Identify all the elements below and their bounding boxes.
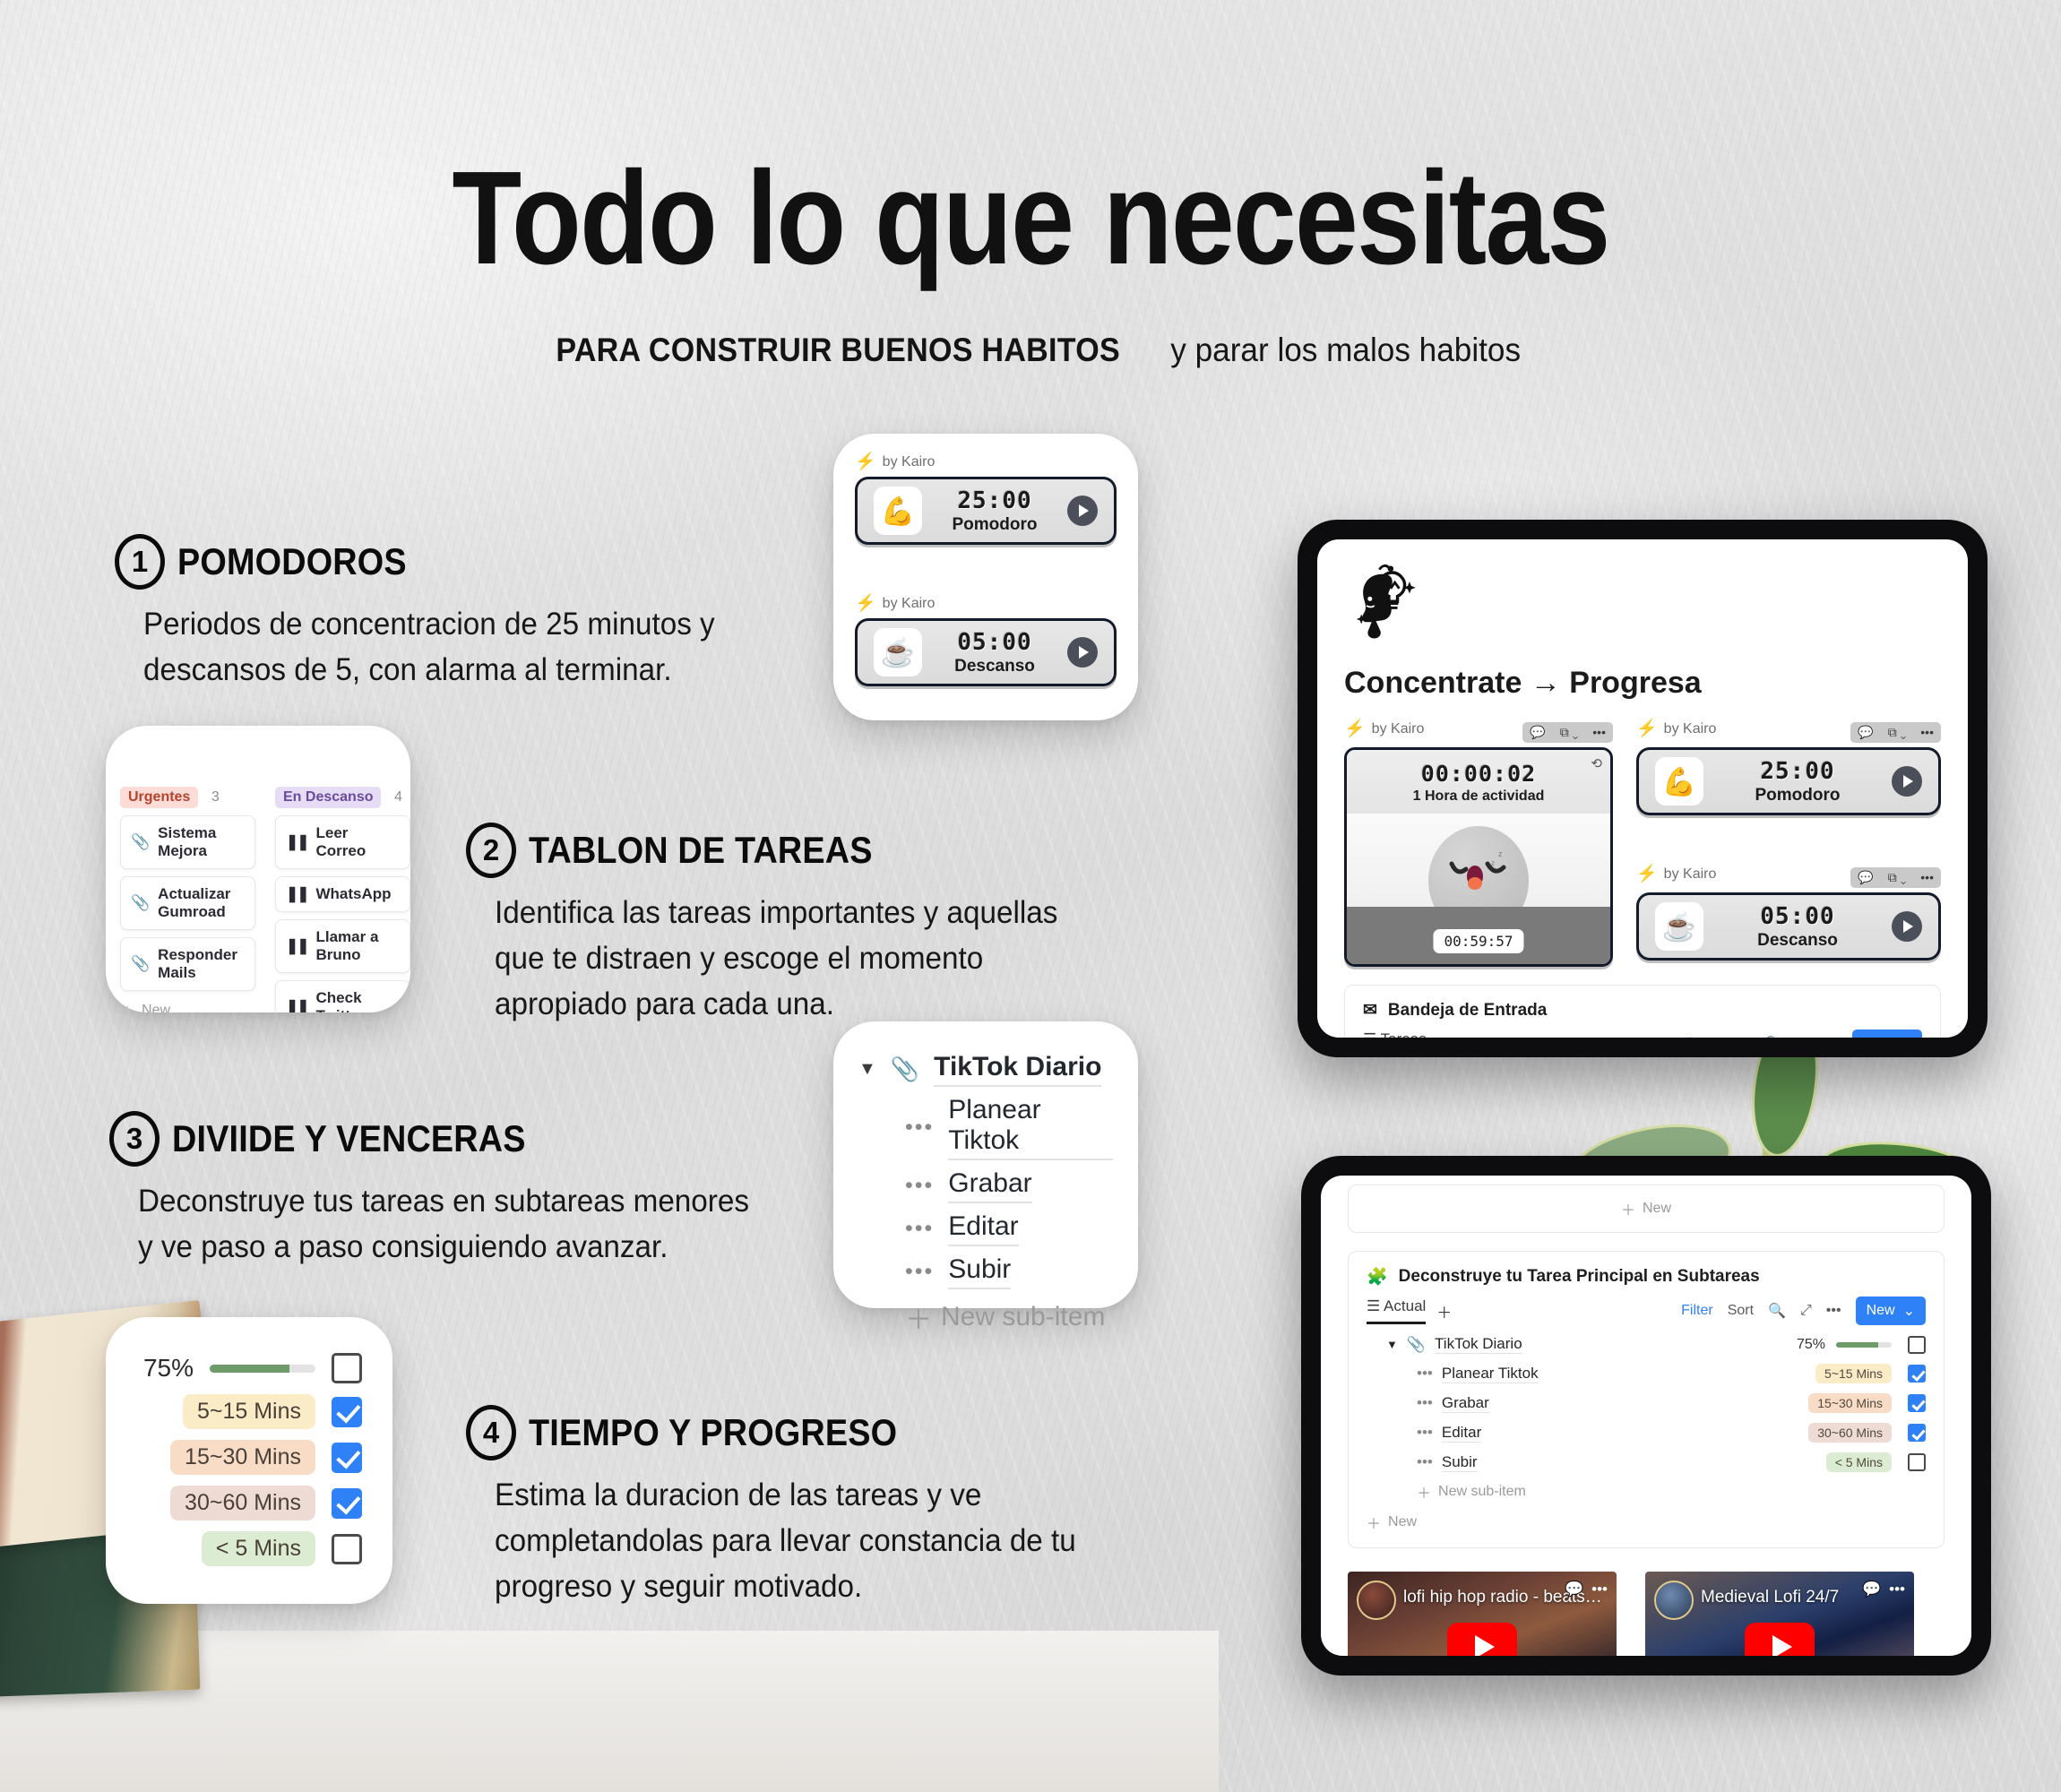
paperclip-icon: 📎 bbox=[131, 955, 150, 973]
progress-bar bbox=[210, 1365, 315, 1373]
child-checkbox[interactable] bbox=[1908, 1424, 1926, 1442]
task-card[interactable]: ❚❚ Leer Correo bbox=[275, 815, 410, 869]
time-row: < 5 Mins bbox=[136, 1531, 362, 1566]
tab-tareas-label: Tareas bbox=[1381, 1030, 1427, 1038]
tablet-timer-clock-descanso: 05:00 bbox=[1716, 903, 1879, 930]
time-row: 30~60 Mins bbox=[136, 1486, 362, 1521]
feature-number-2: 2 bbox=[466, 823, 516, 878]
column-count-urgentes: 3 bbox=[211, 789, 220, 805]
new-task-button-urgentes[interactable]: ＋ New bbox=[120, 1000, 255, 1012]
tablet-timer-column: ⚡ by Kairo 💬 ⧉ ⌄ ••• 💪 25:00 bbox=[1636, 720, 1941, 967]
child-label: Subir bbox=[1442, 1453, 1478, 1472]
feature-title-4: TIEMPO Y PROGRESO bbox=[529, 1411, 897, 1454]
feature-body-1: Periodos de concentracion de 25 minutos … bbox=[143, 602, 780, 694]
feature-title-1: POMODOROS bbox=[177, 540, 407, 583]
subtask-label: Grabar bbox=[948, 1168, 1031, 1203]
ellipsis-icon[interactable]: ••• bbox=[1417, 1394, 1433, 1412]
play-icon[interactable] bbox=[1892, 766, 1922, 797]
new-row-label: New bbox=[1388, 1514, 1417, 1530]
task-label: Check Twitter bbox=[316, 989, 401, 1012]
feature-tablon: 2 TABLON DE TAREAS Identifica las tareas… bbox=[466, 823, 1174, 1027]
paperclip-icon: 📎 bbox=[891, 1055, 919, 1083]
play-icon[interactable] bbox=[1067, 637, 1098, 668]
tablet-top-screen: Concentrate → Progresa ⚡ by Kairo 💬 ⧉ ⌄ … bbox=[1317, 539, 1968, 1038]
tab-actual-label: Actual bbox=[1384, 1297, 1426, 1314]
subtask-row[interactable]: ••• Editar bbox=[905, 1211, 1113, 1246]
time-pill[interactable]: < 5 Mins bbox=[202, 1531, 315, 1566]
bolt-icon: ⚡ bbox=[855, 453, 876, 470]
subtask-card: ▼ 📎 TikTok Diario ••• Planear Tiktok •••… bbox=[833, 1021, 1138, 1308]
timer-clock-pomodoro: 25:00 bbox=[935, 487, 1055, 514]
tablet-top: Concentrate → Progresa ⚡ by Kairo 💬 ⧉ ⌄ … bbox=[1298, 520, 1988, 1057]
task-card[interactable]: ❚❚ WhatsApp bbox=[275, 876, 410, 912]
duration-pill[interactable]: 5~15 Mins bbox=[1815, 1364, 1892, 1383]
svg-text:z: z bbox=[1498, 849, 1503, 858]
feature-divide: 3 DIVIIDE Y VENCERAS Deconstruye tus tar… bbox=[109, 1111, 826, 1271]
feature-body-2: Identifica las tareas importantes y aque… bbox=[495, 891, 1140, 1027]
plus-icon: ＋ bbox=[905, 1297, 932, 1337]
search-icon[interactable]: 🔍 bbox=[1768, 1302, 1786, 1320]
tab-actual[interactable]: ☰ Actual bbox=[1367, 1297, 1426, 1324]
deconstruct-child-row[interactable]: ••• Planear Tiktok 5~15 Mins bbox=[1367, 1364, 1926, 1383]
subtask-parent-row[interactable]: ▼ 📎 TikTok Diario bbox=[858, 1052, 1113, 1087]
child-checkbox[interactable] bbox=[1908, 1365, 1926, 1383]
flexed-biceps-icon: 💪 bbox=[1655, 757, 1703, 806]
ellipsis-icon[interactable]: ••• bbox=[905, 1173, 934, 1199]
focus-widget[interactable]: ⚡ by Kairo 💬 ⧉ ⌄ ••• ⟲ 00:00:02 bbox=[1344, 720, 1613, 967]
bolt-icon: ⚡ bbox=[1636, 720, 1658, 737]
tablet-timer-clock-pomodoro: 25:00 bbox=[1716, 758, 1879, 785]
triangle-down-icon[interactable]: ▼ bbox=[1386, 1338, 1398, 1351]
chevron-down-icon[interactable]: ⌄ bbox=[1900, 1035, 1911, 1038]
bolt-icon: ⚡ bbox=[1636, 866, 1658, 883]
focus-session-clock: 00:59:57 bbox=[1433, 929, 1523, 953]
plus-icon: ＋ bbox=[1367, 1512, 1381, 1533]
envelope-icon: ✉ bbox=[1363, 1000, 1377, 1021]
time-checkbox[interactable] bbox=[332, 1443, 362, 1473]
parent-progress-bar bbox=[1836, 1342, 1892, 1348]
progress-time-card: 75% 5~15 Mins 15~30 Mins 30~60 Mins < 5 … bbox=[106, 1317, 392, 1604]
task-label: Llamar a Bruno bbox=[316, 928, 401, 964]
tablet-timer-descanso[interactable]: ☕ 05:00 Descanso bbox=[1636, 892, 1941, 961]
task-label: Sistema Mejora bbox=[158, 824, 245, 860]
ellipsis-icon[interactable]: ••• bbox=[905, 1259, 934, 1285]
task-card[interactable]: 📎 Actualizar Gumroad bbox=[120, 876, 255, 930]
new-row-label: New bbox=[1643, 1201, 1671, 1217]
comment-icon[interactable]: 💬 bbox=[1862, 1581, 1881, 1598]
ellipsis-icon[interactable]: ••• bbox=[1913, 722, 1941, 742]
focus-animation-bottom: 00:59:57 bbox=[1347, 907, 1610, 964]
time-pill[interactable]: 5~15 Mins bbox=[183, 1394, 315, 1429]
girl-with-lightbulb-logo bbox=[1344, 563, 1430, 649]
progress-header-checkbox[interactable] bbox=[332, 1353, 362, 1383]
time-row: 5~15 Mins bbox=[136, 1394, 362, 1429]
hero-subtitle: PARA CONSTRUIR BUENOS HABITOS y parar lo… bbox=[0, 332, 2061, 369]
kairo-credit: ⚡ by Kairo bbox=[855, 453, 1117, 470]
ellipsis-icon[interactable]: ••• bbox=[905, 1216, 934, 1242]
new-row-button[interactable]: ＋ New bbox=[1367, 1512, 1926, 1533]
subtask-row[interactable]: ••• Subir bbox=[905, 1254, 1113, 1289]
pause-icon: ❚❚ bbox=[286, 998, 308, 1012]
channel-avatar bbox=[1654, 1581, 1694, 1620]
task-card[interactable]: 📎 Responder Mails bbox=[120, 937, 255, 991]
deconstruct-title: Deconstruye tu Tarea Principal en Subtar… bbox=[1399, 1267, 1760, 1287]
timer-label-descanso: Descanso bbox=[935, 657, 1055, 676]
paperclip-icon: 📎 bbox=[1407, 1336, 1426, 1354]
parent-percent: 75% bbox=[1797, 1337, 1825, 1353]
hot-beverage-icon: ☕ bbox=[1655, 902, 1703, 951]
ellipsis-icon[interactable]: ••• bbox=[1826, 1303, 1841, 1319]
progress-percent-label: 75% bbox=[143, 1354, 194, 1383]
kairo-credit: ⚡ by Kairo bbox=[855, 595, 1117, 612]
task-card[interactable]: 📎 Sistema Mejora bbox=[120, 815, 255, 869]
plus-icon: ＋ bbox=[1621, 1198, 1635, 1219]
child-label: Planear Tiktok bbox=[1442, 1365, 1539, 1383]
new-sub-item-button[interactable]: ＋ New sub-item bbox=[1417, 1481, 1926, 1503]
new-task-label: New bbox=[142, 1003, 170, 1012]
ellipsis-icon[interactable]: ••• bbox=[1591, 1581, 1608, 1598]
refresh-icon[interactable]: ⟲ bbox=[1591, 755, 1602, 771]
deconstruct-parent-row[interactable]: ▼ 📎 TikTok Diario 75% bbox=[1367, 1335, 1926, 1354]
play-icon[interactable] bbox=[1067, 495, 1098, 526]
kairo-timer-descanso[interactable]: ⚡ by Kairo ☕ 05:00 Descanso bbox=[855, 595, 1117, 686]
child-checkbox[interactable] bbox=[1908, 1394, 1926, 1412]
time-pill[interactable]: 15~30 Mins bbox=[170, 1440, 315, 1475]
video-embed-medieval[interactable]: Medieval Lofi 24/7 💬 ••• bbox=[1645, 1572, 1914, 1656]
bolt-icon: ⚡ bbox=[1344, 720, 1366, 737]
subtask-parent-label: TikTok Diario bbox=[934, 1052, 1101, 1087]
subtask-label: Planear Tiktok bbox=[948, 1095, 1113, 1160]
timer-label-pomodoro: Pomodoro bbox=[935, 515, 1055, 535]
pause-icon: ❚❚ bbox=[286, 937, 308, 955]
hero-headline: Todo lo que necesitas bbox=[0, 152, 2061, 285]
tablet-timer-pomodoro[interactable]: 💪 25:00 Pomodoro bbox=[1636, 747, 1941, 815]
filter-button[interactable]: Filter bbox=[1681, 1303, 1713, 1319]
puzzle-icon: 🧩 bbox=[1367, 1266, 1388, 1288]
svg-text:z: z bbox=[1491, 859, 1495, 867]
kairo-credit-label: by Kairo bbox=[883, 454, 936, 470]
tab-tareas[interactable]: ☰ Tareas bbox=[1363, 1030, 1427, 1038]
task-label: Actualizar Gumroad bbox=[158, 885, 245, 921]
focus-timer-box[interactable]: ⟲ 00:00:02 1 Hora de actividad z bbox=[1344, 747, 1613, 967]
comment-icon[interactable]: 💬 bbox=[1522, 722, 1552, 743]
hot-beverage-icon: ☕ bbox=[874, 628, 922, 676]
comment-icon[interactable]: 💬 bbox=[1850, 867, 1880, 888]
kairo-credit: ⚡ by Kairo bbox=[1636, 866, 1716, 883]
feature-number-3: 3 bbox=[109, 1111, 160, 1167]
focus-caption: 1 Hora de actividad bbox=[1347, 788, 1610, 805]
feature-title-3: DIVIIDE Y VENCERAS bbox=[172, 1117, 526, 1160]
ellipsis-icon[interactable]: ••• bbox=[1889, 1581, 1905, 1598]
tablet-bottom: ＋ New 🧩 Deconstruye tu Tarea Principal e… bbox=[1301, 1156, 1991, 1676]
pause-icon: ❚❚ bbox=[286, 833, 308, 851]
child-label: Grabar bbox=[1442, 1394, 1489, 1413]
triangle-down-icon[interactable]: ▼ bbox=[858, 1059, 876, 1080]
ellipsis-icon[interactable]: ••• bbox=[1417, 1453, 1433, 1471]
duplicate-icon[interactable]: ⧉ ⌄ bbox=[1881, 722, 1914, 743]
time-pill[interactable]: 30~60 Mins bbox=[170, 1486, 315, 1521]
new-button[interactable]: New ⌄ bbox=[1856, 1297, 1926, 1325]
duration-pill[interactable]: 30~60 Mins bbox=[1808, 1423, 1892, 1443]
subtask-label: Editar bbox=[948, 1211, 1018, 1246]
feature-number-4: 4 bbox=[466, 1405, 516, 1460]
duplicate-icon[interactable]: ⧉ ⌄ bbox=[1881, 867, 1914, 888]
kairo-credit-label: by Kairo bbox=[883, 596, 936, 612]
comment-icon[interactable]: 💬 bbox=[1565, 1581, 1583, 1598]
plus-icon: ＋ bbox=[120, 1000, 134, 1012]
parent-checkbox[interactable] bbox=[1908, 1336, 1926, 1354]
pause-icon: ❚❚ bbox=[286, 885, 308, 903]
tablet-top-page-title: Concentrate → Progresa bbox=[1344, 666, 1941, 701]
new-row-button[interactable]: ＋ New bbox=[1367, 1198, 1926, 1219]
column-count-descanso: 4 bbox=[394, 789, 402, 805]
previous-panel-tail: ＋ New bbox=[1348, 1185, 1945, 1233]
new-sub-item-label: New sub-item bbox=[1438, 1484, 1526, 1500]
kairo-credit: ⚡ by Kairo bbox=[1344, 720, 1424, 737]
ellipsis-icon[interactable]: ••• bbox=[1417, 1424, 1433, 1442]
feature-title-2: TABLON DE TAREAS bbox=[529, 829, 873, 872]
deconstruct-child-row[interactable]: ••• Grabar 15~30 Mins bbox=[1367, 1393, 1926, 1413]
bolt-icon: ⚡ bbox=[855, 595, 876, 612]
child-checkbox[interactable] bbox=[1908, 1453, 1926, 1471]
task-board-card: Urgentes 3 📎 Sistema Mejora 📎 Actualizar… bbox=[106, 726, 410, 1012]
focus-animation-top: z z bbox=[1347, 814, 1610, 907]
inbox-title: Bandeja de Entrada bbox=[1388, 1001, 1547, 1021]
feature-pomodoros: 1 POMODOROS Periodos de concentracion de… bbox=[115, 534, 814, 694]
timer-clock-descanso: 05:00 bbox=[935, 629, 1055, 656]
sort-button[interactable]: Sort bbox=[1728, 1303, 1754, 1319]
new-sub-item-button[interactable]: ＋ New sub-item bbox=[905, 1297, 1113, 1337]
page-title: Todo lo que necesitas bbox=[144, 152, 1917, 285]
kairo-credit: ⚡ by Kairo bbox=[1636, 720, 1716, 737]
list-icon: ☰ bbox=[1367, 1297, 1380, 1314]
expand-icon[interactable]: ⤢ bbox=[1800, 1303, 1812, 1319]
paperclip-icon: 📎 bbox=[131, 833, 150, 851]
task-label: Responder Mails bbox=[158, 946, 245, 982]
column-chip-urgentes[interactable]: Urgentes bbox=[120, 787, 198, 808]
timer-bar-descanso[interactable]: ☕ 05:00 Descanso bbox=[855, 618, 1117, 686]
time-checkbox[interactable] bbox=[332, 1534, 362, 1564]
deconstruct-child-row[interactable]: ••• Subir < 5 Mins bbox=[1367, 1452, 1926, 1472]
child-label: Editar bbox=[1442, 1424, 1481, 1443]
new-sub-item-label: New sub-item bbox=[941, 1302, 1105, 1332]
duration-pill[interactable]: 15~30 Mins bbox=[1808, 1393, 1892, 1413]
new-button-label: New bbox=[1867, 1303, 1895, 1319]
ellipsis-icon[interactable]: ••• bbox=[1585, 722, 1613, 742]
subtitle-bold: PARA CONSTRUIR BUENOS HABITOS bbox=[556, 332, 1121, 369]
plus-icon: ＋ bbox=[1417, 1481, 1431, 1503]
column-chip-descanso[interactable]: En Descanso bbox=[275, 787, 381, 808]
tablet-bottom-screen: ＋ New 🧩 Deconstruye tu Tarea Principal e… bbox=[1321, 1176, 1971, 1656]
deconstruct-panel: 🧩 Deconstruye tu Tarea Principal en Subt… bbox=[1348, 1251, 1945, 1548]
subtask-row[interactable]: ••• Planear Tiktok bbox=[905, 1095, 1113, 1160]
chevron-down-icon[interactable]: ⌄ bbox=[1903, 1302, 1915, 1320]
task-label: WhatsApp bbox=[316, 885, 392, 903]
kairo-credit-label: by Kairo bbox=[1664, 866, 1717, 883]
task-card[interactable]: ❚❚ Llamar a Bruno bbox=[275, 919, 410, 973]
timer-bar-pomodoro[interactable]: 💪 25:00 Pomodoro bbox=[855, 477, 1117, 545]
time-checkbox[interactable] bbox=[332, 1397, 362, 1427]
blob-face-icon: z z bbox=[1428, 849, 1529, 903]
board-column-descanso: En Descanso 4 ❚❚ Leer Correo ❚❚ WhatsApp… bbox=[275, 787, 410, 1012]
kairo-credit-label: by Kairo bbox=[1664, 721, 1717, 737]
video-embeds: lofi hip hop radio - beats… 💬 ••• Mediev… bbox=[1348, 1572, 1945, 1656]
channel-avatar bbox=[1357, 1581, 1396, 1620]
add-view-icon[interactable]: ＋ bbox=[1437, 1033, 1453, 1038]
comment-icon[interactable]: 💬 bbox=[1850, 722, 1880, 743]
ellipsis-icon[interactable]: ••• bbox=[1417, 1365, 1433, 1383]
sort-button[interactable]: Sort bbox=[1724, 1036, 1750, 1038]
video-embed-lofi[interactable]: lofi hip hop radio - beats… 💬 ••• bbox=[1348, 1572, 1617, 1656]
list-icon: ☰ bbox=[1363, 1030, 1376, 1038]
duration-pill[interactable]: < 5 Mins bbox=[1826, 1452, 1892, 1472]
focus-clock: 00:00:02 bbox=[1347, 761, 1610, 787]
feature-tiempo: 4 TIEMPO Y PROGRESO Estima la duracion d… bbox=[466, 1405, 1192, 1609]
paperclip-icon: 📎 bbox=[131, 894, 150, 912]
youtube-play-icon[interactable] bbox=[1447, 1623, 1517, 1656]
video-title: Medieval Lofi 24/7 bbox=[1701, 1588, 1839, 1607]
feature-body-3: Deconstruye tus tareas en subtareas meno… bbox=[138, 1179, 792, 1271]
kairo-timer-pomodoro[interactable]: ⚡ by Kairo 💪 25:00 Pomodoro bbox=[855, 453, 1117, 545]
subtask-row[interactable]: ••• Grabar bbox=[905, 1168, 1113, 1203]
deconstruct-child-row[interactable]: ••• Editar 30~60 Mins bbox=[1367, 1423, 1926, 1443]
search-icon[interactable]: 🔍 bbox=[1764, 1035, 1782, 1038]
kairo-credit-label: by Kairo bbox=[1372, 721, 1425, 737]
widget-toolbar[interactable]: 💬 ⧉ ⌄ ••• bbox=[1850, 722, 1941, 743]
flexed-biceps-icon: 💪 bbox=[874, 487, 922, 535]
widget-toolbar[interactable]: 💬 ⧉ ⌄ ••• bbox=[1522, 722, 1613, 743]
subtask-label: Subir bbox=[948, 1254, 1011, 1289]
time-row: 15~30 Mins bbox=[136, 1440, 362, 1475]
ellipsis-icon[interactable]: ••• bbox=[905, 1115, 934, 1141]
add-view-icon[interactable]: ＋ bbox=[1436, 1300, 1452, 1322]
duplicate-icon[interactable]: ⧉ ⌄ bbox=[1553, 722, 1586, 743]
task-label: Leer Correo bbox=[316, 824, 401, 860]
inbox-panel: ✉ Bandeja de Entrada ☰ Tareas ＋ Filter S… bbox=[1344, 985, 1941, 1038]
tablet-timer-label-pomodoro: Pomodoro bbox=[1716, 786, 1879, 806]
feature-number-1: 1 bbox=[115, 534, 165, 590]
tablet-timer-label-descanso: Descanso bbox=[1716, 931, 1879, 951]
expand-icon[interactable]: ⤢ bbox=[1797, 1036, 1808, 1038]
widget-toolbar[interactable]: 💬 ⧉ ⌄ ••• bbox=[1850, 867, 1941, 888]
pomodoro-widget-card: ⚡ by Kairo 💪 25:00 Pomodoro ⚡ by Kairo ☕… bbox=[833, 434, 1138, 720]
board-column-urgentes: Urgentes 3 📎 Sistema Mejora 📎 Actualizar… bbox=[120, 787, 255, 1012]
parent-label: TikTok Diario bbox=[1435, 1335, 1522, 1354]
ellipsis-icon[interactable]: ••• bbox=[1913, 867, 1941, 887]
youtube-play-icon[interactable] bbox=[1745, 1623, 1815, 1656]
filter-button[interactable]: Filter bbox=[1677, 1036, 1710, 1038]
task-card[interactable]: ❚❚ Check Twitter bbox=[275, 980, 410, 1012]
ellipsis-icon[interactable]: ••• bbox=[1823, 1036, 1838, 1038]
feature-body-4: Estima la duracion de las tareas y ve co… bbox=[495, 1473, 1157, 1609]
new-button-label: New bbox=[1863, 1036, 1892, 1038]
play-icon[interactable] bbox=[1892, 911, 1922, 942]
subtitle-normal: y parar los malos habitos bbox=[1170, 332, 1521, 369]
progress-header-row: 75% bbox=[136, 1353, 362, 1383]
time-checkbox[interactable] bbox=[332, 1488, 362, 1519]
new-button[interactable]: New ⌄ bbox=[1852, 1030, 1922, 1038]
